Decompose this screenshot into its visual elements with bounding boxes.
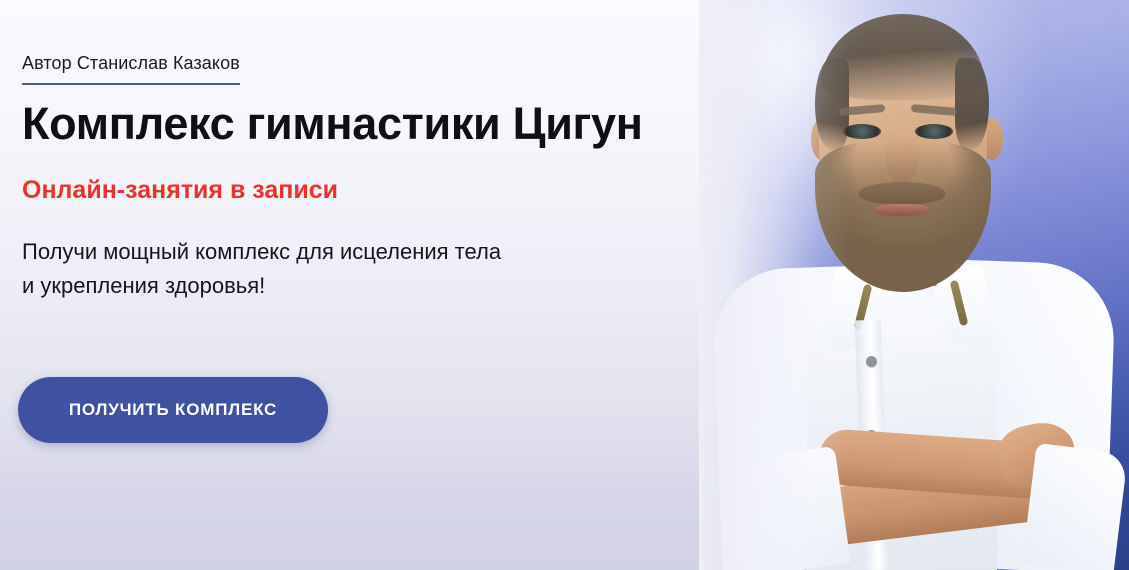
hero-description: Получи мощный комплекс для исцеления тел… (22, 235, 662, 303)
hero-banner: Автор Станислав Казаков Комплекс гимнаст… (0, 0, 1129, 570)
eye-right (915, 124, 953, 139)
eye-left (843, 124, 881, 139)
mouth (875, 204, 929, 216)
hero-description-line-2: и укрепления здоровья! (22, 273, 265, 298)
get-complex-button[interactable]: ПОЛУЧИТЬ КОМПЛЕКС (18, 377, 328, 443)
author-credit: Автор Станислав Казаков (22, 52, 240, 85)
sleeve-cuff-right (1022, 443, 1128, 570)
hero-content: Автор Станислав Казаков Комплекс гимнаст… (22, 0, 702, 570)
mustache (859, 182, 945, 204)
instructor-figure (699, 0, 1129, 570)
hero-description-line-1: Получи мощный комплекс для исцеления тел… (22, 239, 501, 264)
page-title: Комплекс гимнастики Цигун (22, 98, 643, 150)
shirt-button-upper (866, 356, 877, 367)
sleeve-cuff-left (739, 446, 850, 570)
hair-side-right (955, 58, 989, 150)
hero-subtitle: Онлайн-занятия в записи (22, 175, 338, 205)
instructor-photo (699, 0, 1129, 570)
hair-side-left (815, 58, 849, 150)
